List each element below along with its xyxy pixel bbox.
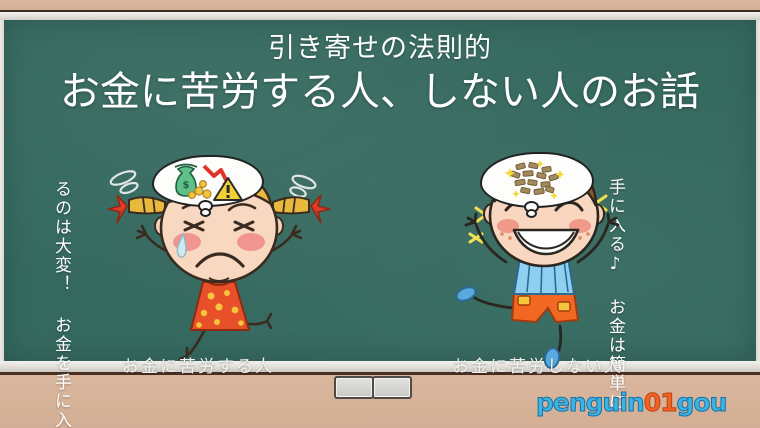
page-title: お金に苦労する人、しない人のお話	[4, 66, 756, 118]
shorts	[512, 292, 578, 322]
right-bubble-contents	[496, 158, 576, 200]
left-vertical-col1: お金を手に入れ	[51, 316, 71, 428]
logo-part-b: 01	[644, 388, 677, 417]
wall-bottom-trim	[0, 372, 760, 375]
cheek-right	[237, 233, 265, 251]
left-bubble-tail-2	[200, 208, 211, 217]
logo-part-c: gou	[677, 388, 727, 417]
logo-part-a: penguin	[536, 388, 644, 417]
shoe-left	[454, 285, 477, 304]
warning-triangle-icon	[214, 178, 242, 200]
eraser-1[interactable]	[334, 376, 374, 399]
svg-text:$: $	[183, 180, 190, 191]
right-caption: お金に苦労しない人	[452, 352, 623, 377]
site-logo[interactable]: penguin01gou	[536, 388, 726, 417]
coin-pile-icon	[510, 162, 558, 194]
eraser-2[interactable]	[372, 376, 412, 399]
left-vertical-text: るのは大変！ お金を手に入れ	[50, 180, 71, 310]
subtitle-text: 引き寄せの法則的	[4, 32, 756, 66]
dress	[191, 280, 249, 330]
slide-canvas: 引き寄せの法則的 お金に苦労する人、しない人のお話 るのは大変！ お金を手に入れ	[0, 0, 760, 428]
left-bubble-contents: $	[162, 158, 254, 202]
right-bubble-tail-2	[526, 209, 537, 218]
title-block: 引き寄せの法則的 お金に苦労する人、しない人のお話	[4, 32, 756, 118]
board-frame-bottom	[0, 360, 760, 372]
money-bag-icon: $	[175, 165, 197, 197]
chalkboard: 引き寄せの法則的 お金に苦労する人、しない人のお話 るのは大変！ お金を手に入れ	[4, 20, 756, 361]
left-vertical-col2: るのは大変！	[51, 180, 71, 294]
left-caption: お金に苦労する人	[122, 352, 274, 377]
